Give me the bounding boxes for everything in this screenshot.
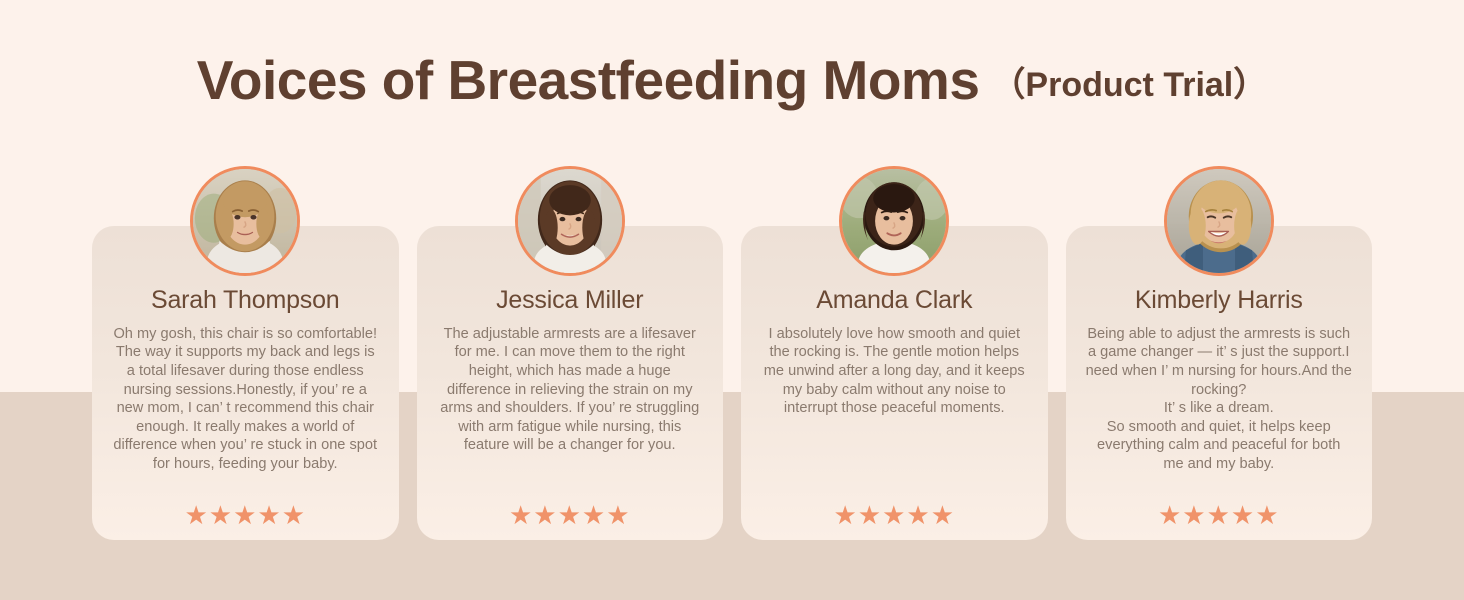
testimonial-quote: The adjustable armrests are a lifesaver … (429, 325, 712, 455)
star-icon: ★★★★★ (1158, 502, 1280, 528)
star-icon: ★★★★★ (509, 502, 631, 528)
testimonial-author-name: Amanda Clark (753, 286, 1036, 315)
testimonial-card[interactable]: Kimberly Harris Being able to adjust the… (1066, 226, 1373, 540)
page-title-main: Voices of Breastfeeding Moms (197, 48, 980, 112)
testimonial-quote: Oh my gosh, this chair is so comfortable… (104, 325, 387, 474)
testimonial-card[interactable]: Jessica Miller The adjustable armrests a… (417, 226, 724, 540)
page-title-subtitle: （Product Trial） (991, 57, 1267, 106)
avatar (839, 166, 949, 276)
testimonial-card-list: Sarah Thompson Oh my gosh, this chair is… (92, 226, 1372, 540)
testimonial-quote: I absolutely love how smooth and quiet t… (753, 325, 1036, 418)
star-rating: ★★★★★ (1066, 502, 1373, 528)
testimonial-card[interactable]: Amanda Clark I absolutely love how smoot… (741, 226, 1048, 540)
testimonial-author-name: Kimberly Harris (1078, 286, 1361, 315)
testimonial-quote: Being able to adjust the armrests is suc… (1078, 325, 1361, 474)
avatar (190, 166, 300, 276)
testimonial-author-name: Jessica Miller (429, 286, 712, 315)
page-title: Voices of Breastfeeding Moms（Product Tri… (0, 48, 1464, 112)
star-rating: ★★★★★ (92, 502, 399, 528)
testimonial-card[interactable]: Sarah Thompson Oh my gosh, this chair is… (92, 226, 399, 540)
avatar (515, 166, 625, 276)
star-icon: ★★★★★ (184, 502, 306, 528)
star-icon: ★★★★★ (833, 502, 955, 528)
avatar (1164, 166, 1274, 276)
testimonial-banner: Voices of Breastfeeding Moms（Product Tri… (0, 0, 1464, 600)
testimonial-author-name: Sarah Thompson (104, 286, 387, 315)
star-rating: ★★★★★ (741, 502, 1048, 528)
star-rating: ★★★★★ (417, 502, 724, 528)
